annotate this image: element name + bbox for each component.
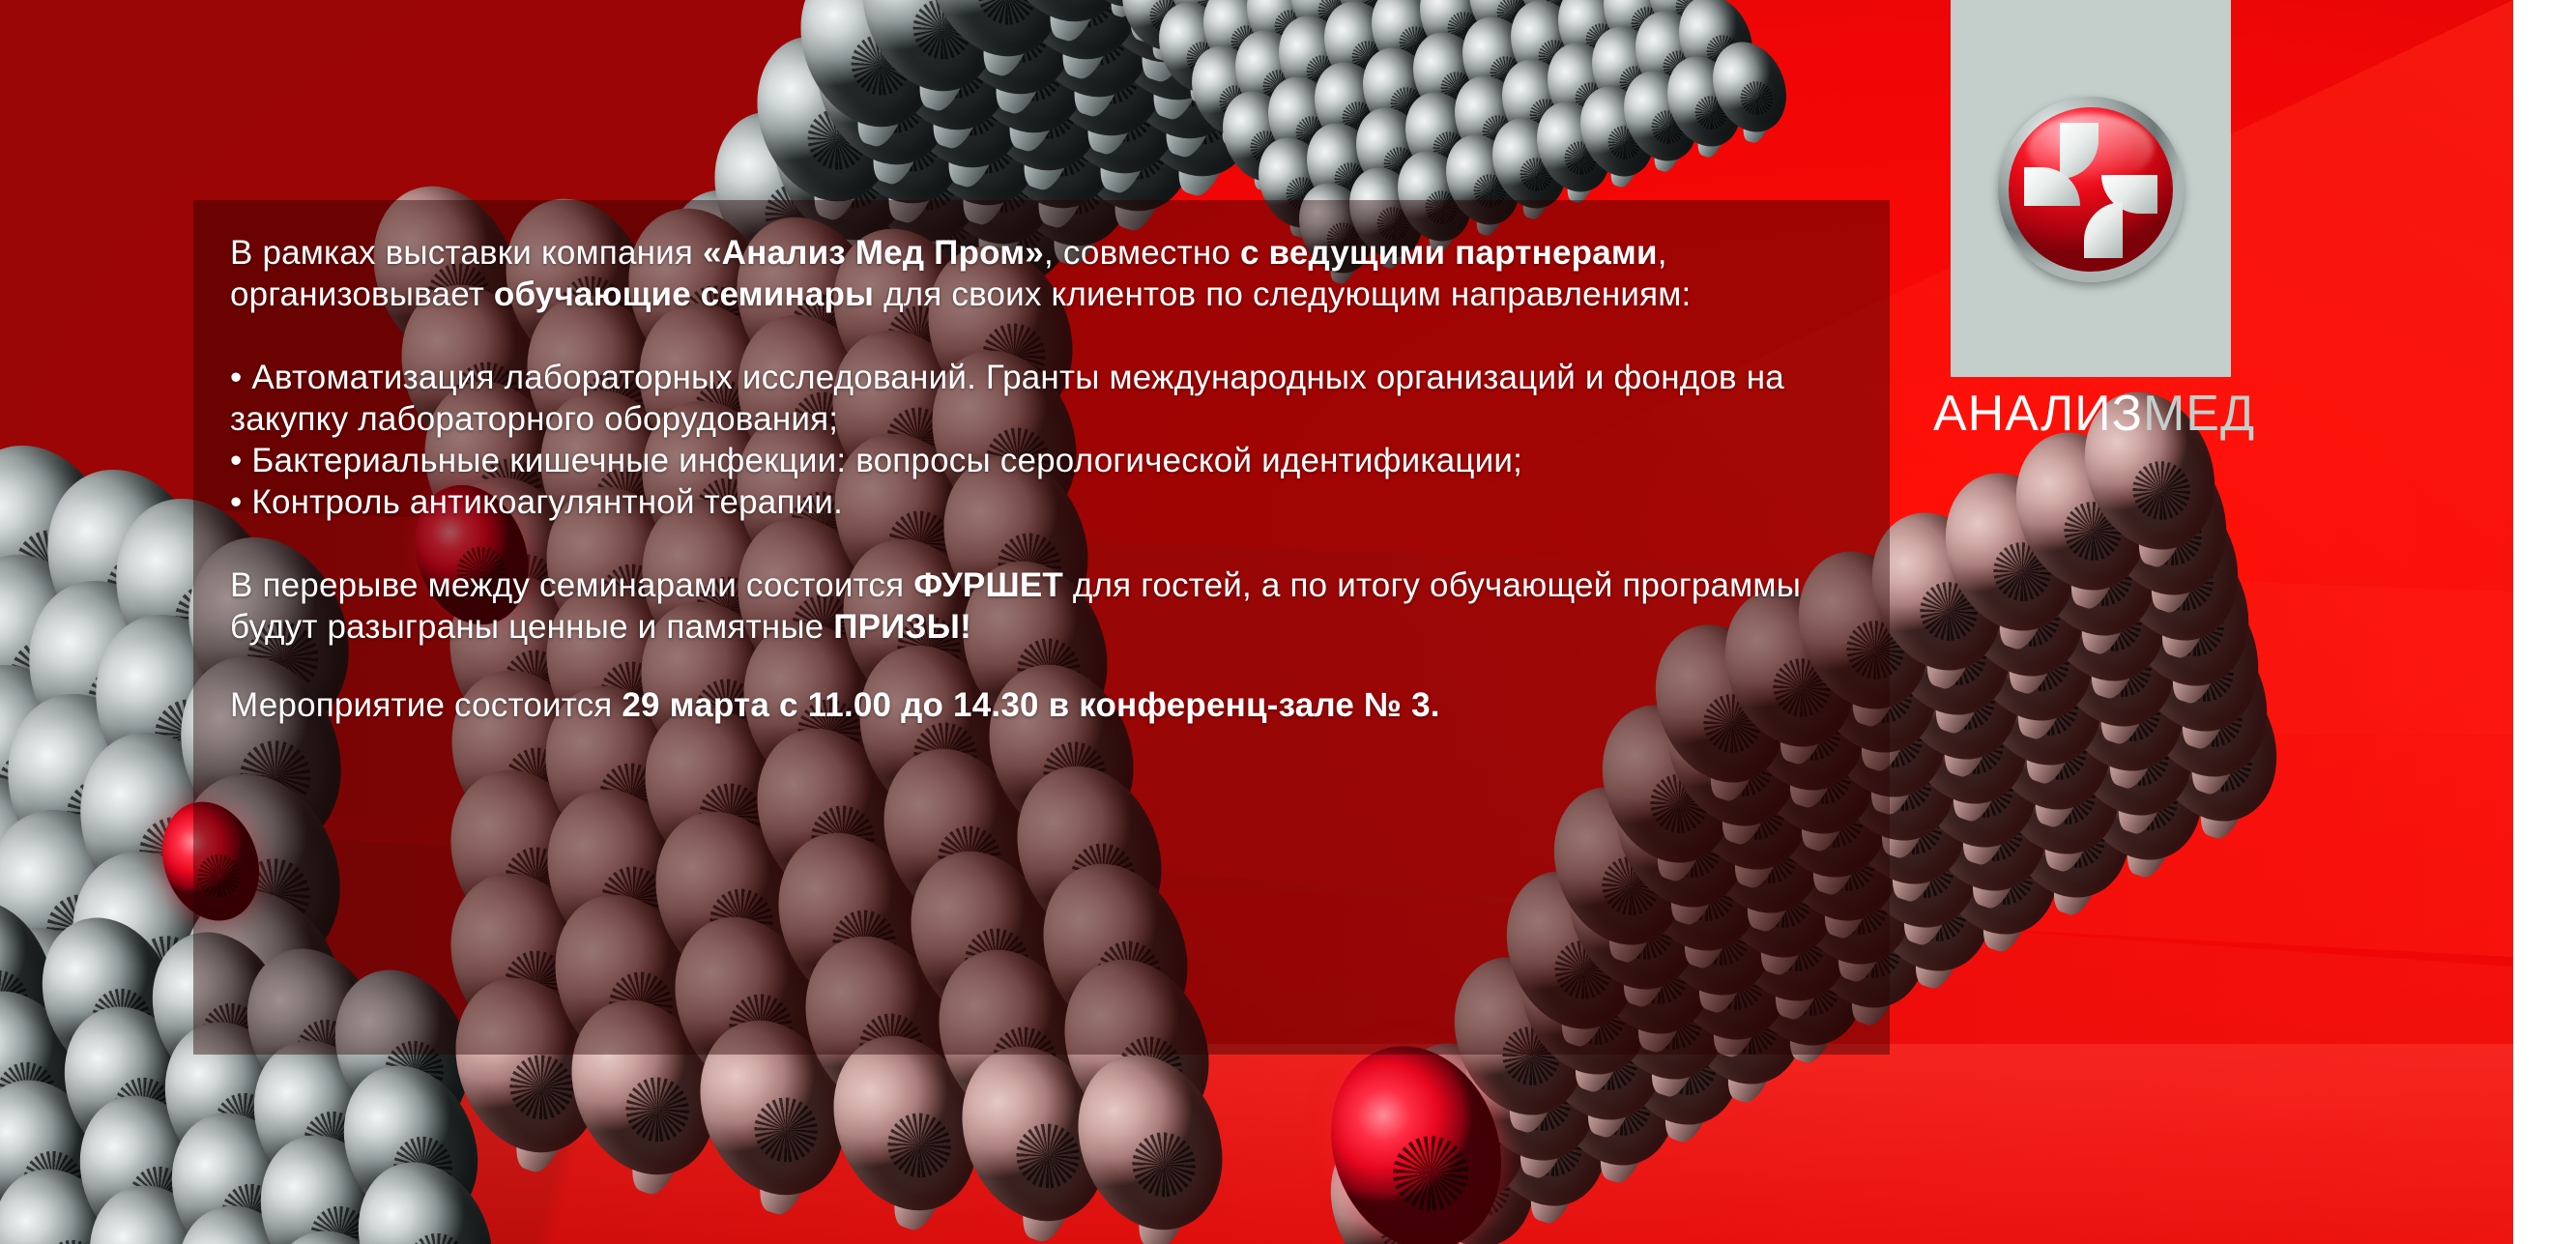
buffet-emphasis: ФУРШЕТ bbox=[913, 566, 1063, 604]
pinwheel-medical-cross-icon bbox=[2009, 107, 2173, 272]
announcement-copy: В рамках выставки компания «Анализ Мед П… bbox=[230, 232, 1893, 726]
bullet-item-2: • Бактериальные кишечные инфекции: вопро… bbox=[230, 440, 1893, 481]
background-stage: В рамках выставки компания «Анализ Мед П… bbox=[0, 0, 2513, 1244]
break-note-paragraph: В перерыве между семинарами состоится ФУ… bbox=[230, 564, 1893, 648]
company-name: «Анализ Мед Пром» bbox=[703, 234, 1044, 272]
event-seg-1: Мероприятие состоится bbox=[230, 686, 622, 724]
pinwheel-blade-4 bbox=[2084, 202, 2123, 258]
poster-root: В рамках выставки компания «Анализ Мед П… bbox=[0, 0, 2576, 1244]
wordmark-analiz: АНАЛИЗ bbox=[1933, 386, 2143, 442]
break-seg-1: В перерыве между семинарами состоится bbox=[230, 566, 913, 604]
wordmark-med: МЕД bbox=[2143, 386, 2255, 442]
intro-paragraph: В рамках выставки компания «Анализ Мед П… bbox=[230, 232, 1893, 315]
bullet-item-3: • Контроль антикоагулянтной терапии. bbox=[230, 481, 1893, 523]
intro-seg-1: В рамках выставки компания bbox=[230, 234, 703, 272]
seminars-emphasis: обучающие семинары bbox=[494, 275, 874, 313]
event-details-paragraph: Мероприятие состоится 29 марта с 11.00 д… bbox=[230, 684, 1893, 726]
spacer-3 bbox=[230, 648, 1893, 684]
background-ray-bottom bbox=[0, 1044, 2513, 1244]
logo-emblem-ring bbox=[1998, 97, 2184, 282]
partners-emphasis: с ведущими партнерами bbox=[1240, 234, 1658, 272]
prizes-emphasis: ПРИЗЫ! bbox=[833, 608, 971, 646]
logo-wordmark: АНАЛИЗМЕД bbox=[1933, 385, 2252, 443]
spacer-2 bbox=[230, 523, 1893, 564]
event-datetime-venue: 29 марта с 11.00 до 14.30 в конференц-за… bbox=[622, 686, 1439, 724]
analizmed-logo[interactable]: АНАЛИЗМЕД bbox=[1951, 0, 2231, 454]
intro-seg-7: для своих клиентов по следующим направле… bbox=[874, 275, 1691, 313]
intro-seg-3: , совместно bbox=[1044, 234, 1240, 272]
spacer-1 bbox=[230, 315, 1893, 357]
bullet-item-1: • Автоматизация лабораторных исследовани… bbox=[230, 357, 1893, 440]
